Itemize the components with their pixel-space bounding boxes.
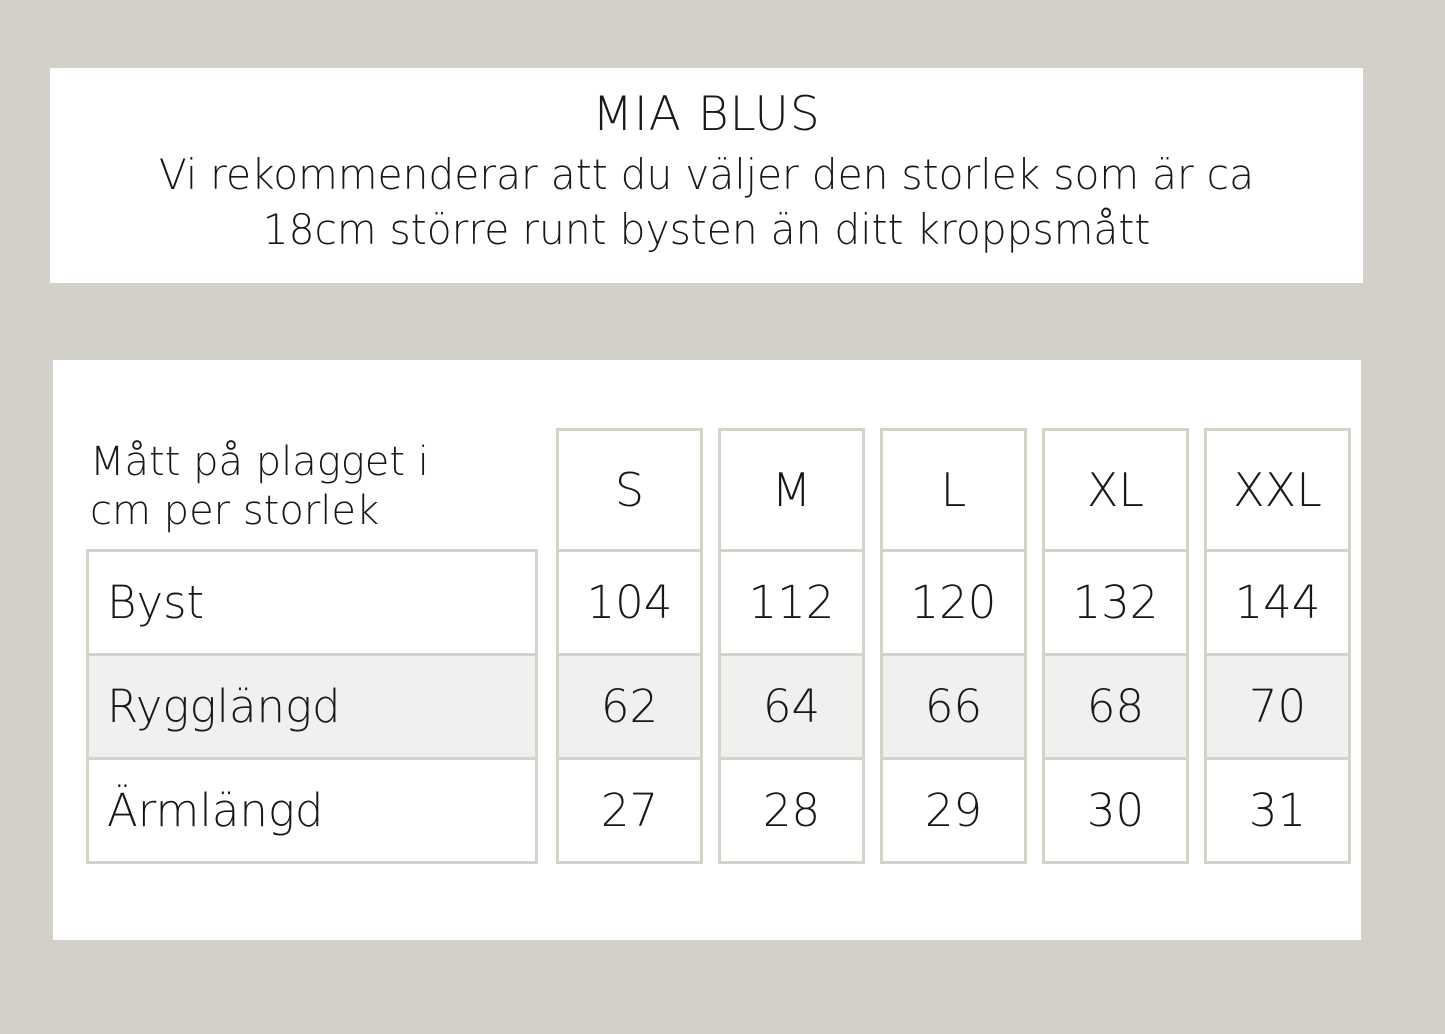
size-columns: S 104 62 27 M 112 64 28 L 120 66 29 XL 1… bbox=[556, 428, 1351, 864]
size-column-xxl: XXL 144 70 31 bbox=[1204, 428, 1351, 864]
cell-byst-xl: 132 bbox=[1042, 549, 1189, 656]
corner-label-line-1: Mått på plagget i bbox=[90, 439, 429, 485]
measurement-label-column: Mått på plagget i cm per storlek Byst Ry… bbox=[86, 428, 538, 864]
size-table-panel: Mått på plagget i cm per storlek Byst Ry… bbox=[53, 360, 1361, 940]
size-header-l: L bbox=[880, 428, 1027, 552]
size-column-m: M 112 64 28 bbox=[718, 428, 865, 864]
size-header-xxl: XXL bbox=[1204, 428, 1351, 552]
size-column-xl: XL 132 68 30 bbox=[1042, 428, 1189, 864]
table-row-label-armlangd: Ärmlängd bbox=[86, 757, 538, 864]
size-header-xl: XL bbox=[1042, 428, 1189, 552]
cell-byst-xxl: 144 bbox=[1204, 549, 1351, 656]
recommendation-line-2: 18cm större runt bysten än ditt kroppsmå… bbox=[70, 203, 1344, 258]
cell-armlangd-l: 29 bbox=[880, 757, 1027, 864]
cell-rygglangd-xxl: 70 bbox=[1204, 653, 1351, 760]
recommendation-text: Vi rekommenderar att du väljer den storl… bbox=[50, 148, 1363, 257]
cell-byst-l: 120 bbox=[880, 549, 1027, 656]
size-column-s: S 104 62 27 bbox=[556, 428, 703, 864]
corner-label-line-2: cm per storlek bbox=[90, 488, 379, 534]
table-row-label-rygglangd: Rygglängd bbox=[86, 653, 538, 760]
table-corner-label: Mått på plagget i cm per storlek bbox=[86, 428, 538, 552]
size-column-l: L 120 66 29 bbox=[880, 428, 1027, 864]
table-row-label-byst: Byst bbox=[86, 549, 538, 656]
size-table: Mått på plagget i cm per storlek Byst Ry… bbox=[86, 428, 1340, 864]
cell-rygglangd-l: 66 bbox=[880, 653, 1027, 760]
size-header-m: M bbox=[718, 428, 865, 552]
cell-rygglangd-m: 64 bbox=[718, 653, 865, 760]
cell-rygglangd-s: 62 bbox=[556, 653, 703, 760]
cell-armlangd-xxl: 31 bbox=[1204, 757, 1351, 864]
cell-byst-m: 112 bbox=[718, 549, 865, 656]
cell-rygglangd-xl: 68 bbox=[1042, 653, 1189, 760]
cell-armlangd-xl: 30 bbox=[1042, 757, 1189, 864]
recommendation-line-1: Vi rekommenderar att du väljer den storl… bbox=[70, 148, 1344, 203]
cell-armlangd-m: 28 bbox=[718, 757, 865, 864]
cell-armlangd-s: 27 bbox=[556, 757, 703, 864]
page-title: MIA BLUS bbox=[592, 88, 820, 142]
cell-byst-s: 104 bbox=[556, 549, 703, 656]
header-panel: MIA BLUS Vi rekommenderar att du väljer … bbox=[50, 68, 1363, 283]
size-header-s: S bbox=[556, 428, 703, 552]
